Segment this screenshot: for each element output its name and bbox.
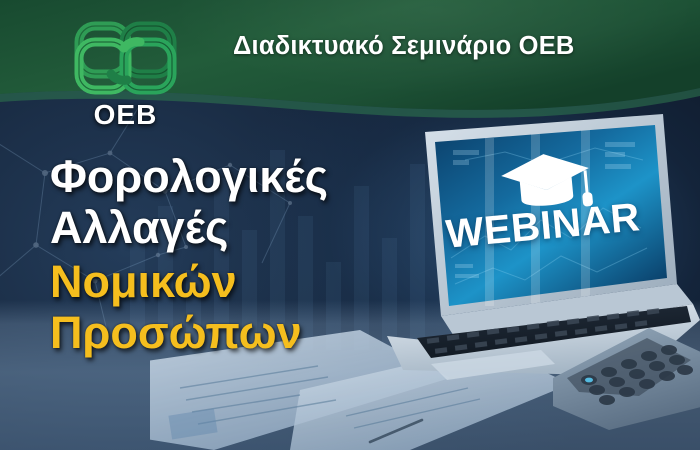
header-title: Διαδικτυακό Σεμινάριο ΟΕΒ [233,32,575,61]
webinar-poster: WEBINAR [0,0,700,450]
calculator-illustration [545,310,700,430]
oeb-logo-icon [73,16,178,104]
poster-headline: Φορολογικές Αλλαγές Νομικών Προσώπων [50,154,400,355]
oeb-wordmark: OEB [73,99,178,131]
headline-line-1: Φορολογικές [50,154,400,199]
headline-line-3: Νομικών [50,259,400,304]
headline-line-2: Αλλαγές [50,205,400,250]
headline-line-4: Προσώπων [50,310,400,355]
